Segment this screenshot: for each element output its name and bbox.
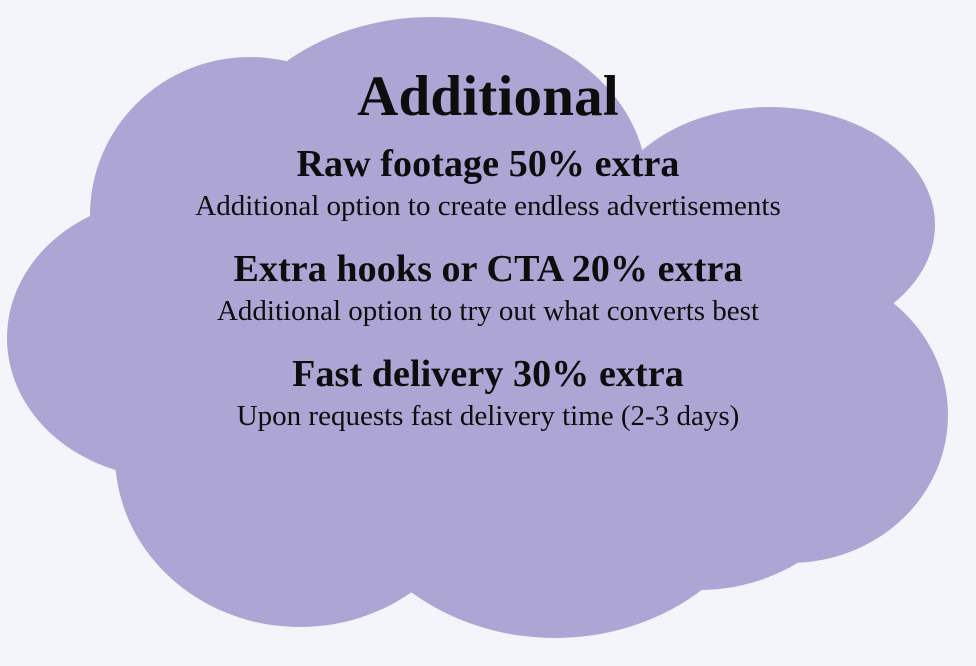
feature-item: Extra hooks or CTA 20% extra Additional …: [0, 249, 976, 328]
feature-description: Upon requests fast delivery time (2-3 da…: [0, 401, 976, 433]
feature-description: Additional option to try out what conver…: [0, 296, 976, 328]
feature-heading: Raw footage 50% extra: [0, 144, 976, 185]
feature-heading: Extra hooks or CTA 20% extra: [0, 249, 976, 290]
cloud-content: Additional Raw footage 50% extra Additio…: [0, 0, 976, 666]
feature-description: Additional option to create endless adve…: [0, 191, 976, 223]
feature-item: Fast delivery 30% extra Upon requests fa…: [0, 354, 976, 433]
feature-item: Raw footage 50% extra Additional option …: [0, 144, 976, 223]
slide-canvas: Additional Raw footage 50% extra Additio…: [0, 0, 976, 666]
page-title: Additional: [357, 68, 619, 126]
feature-heading: Fast delivery 30% extra: [0, 354, 976, 395]
